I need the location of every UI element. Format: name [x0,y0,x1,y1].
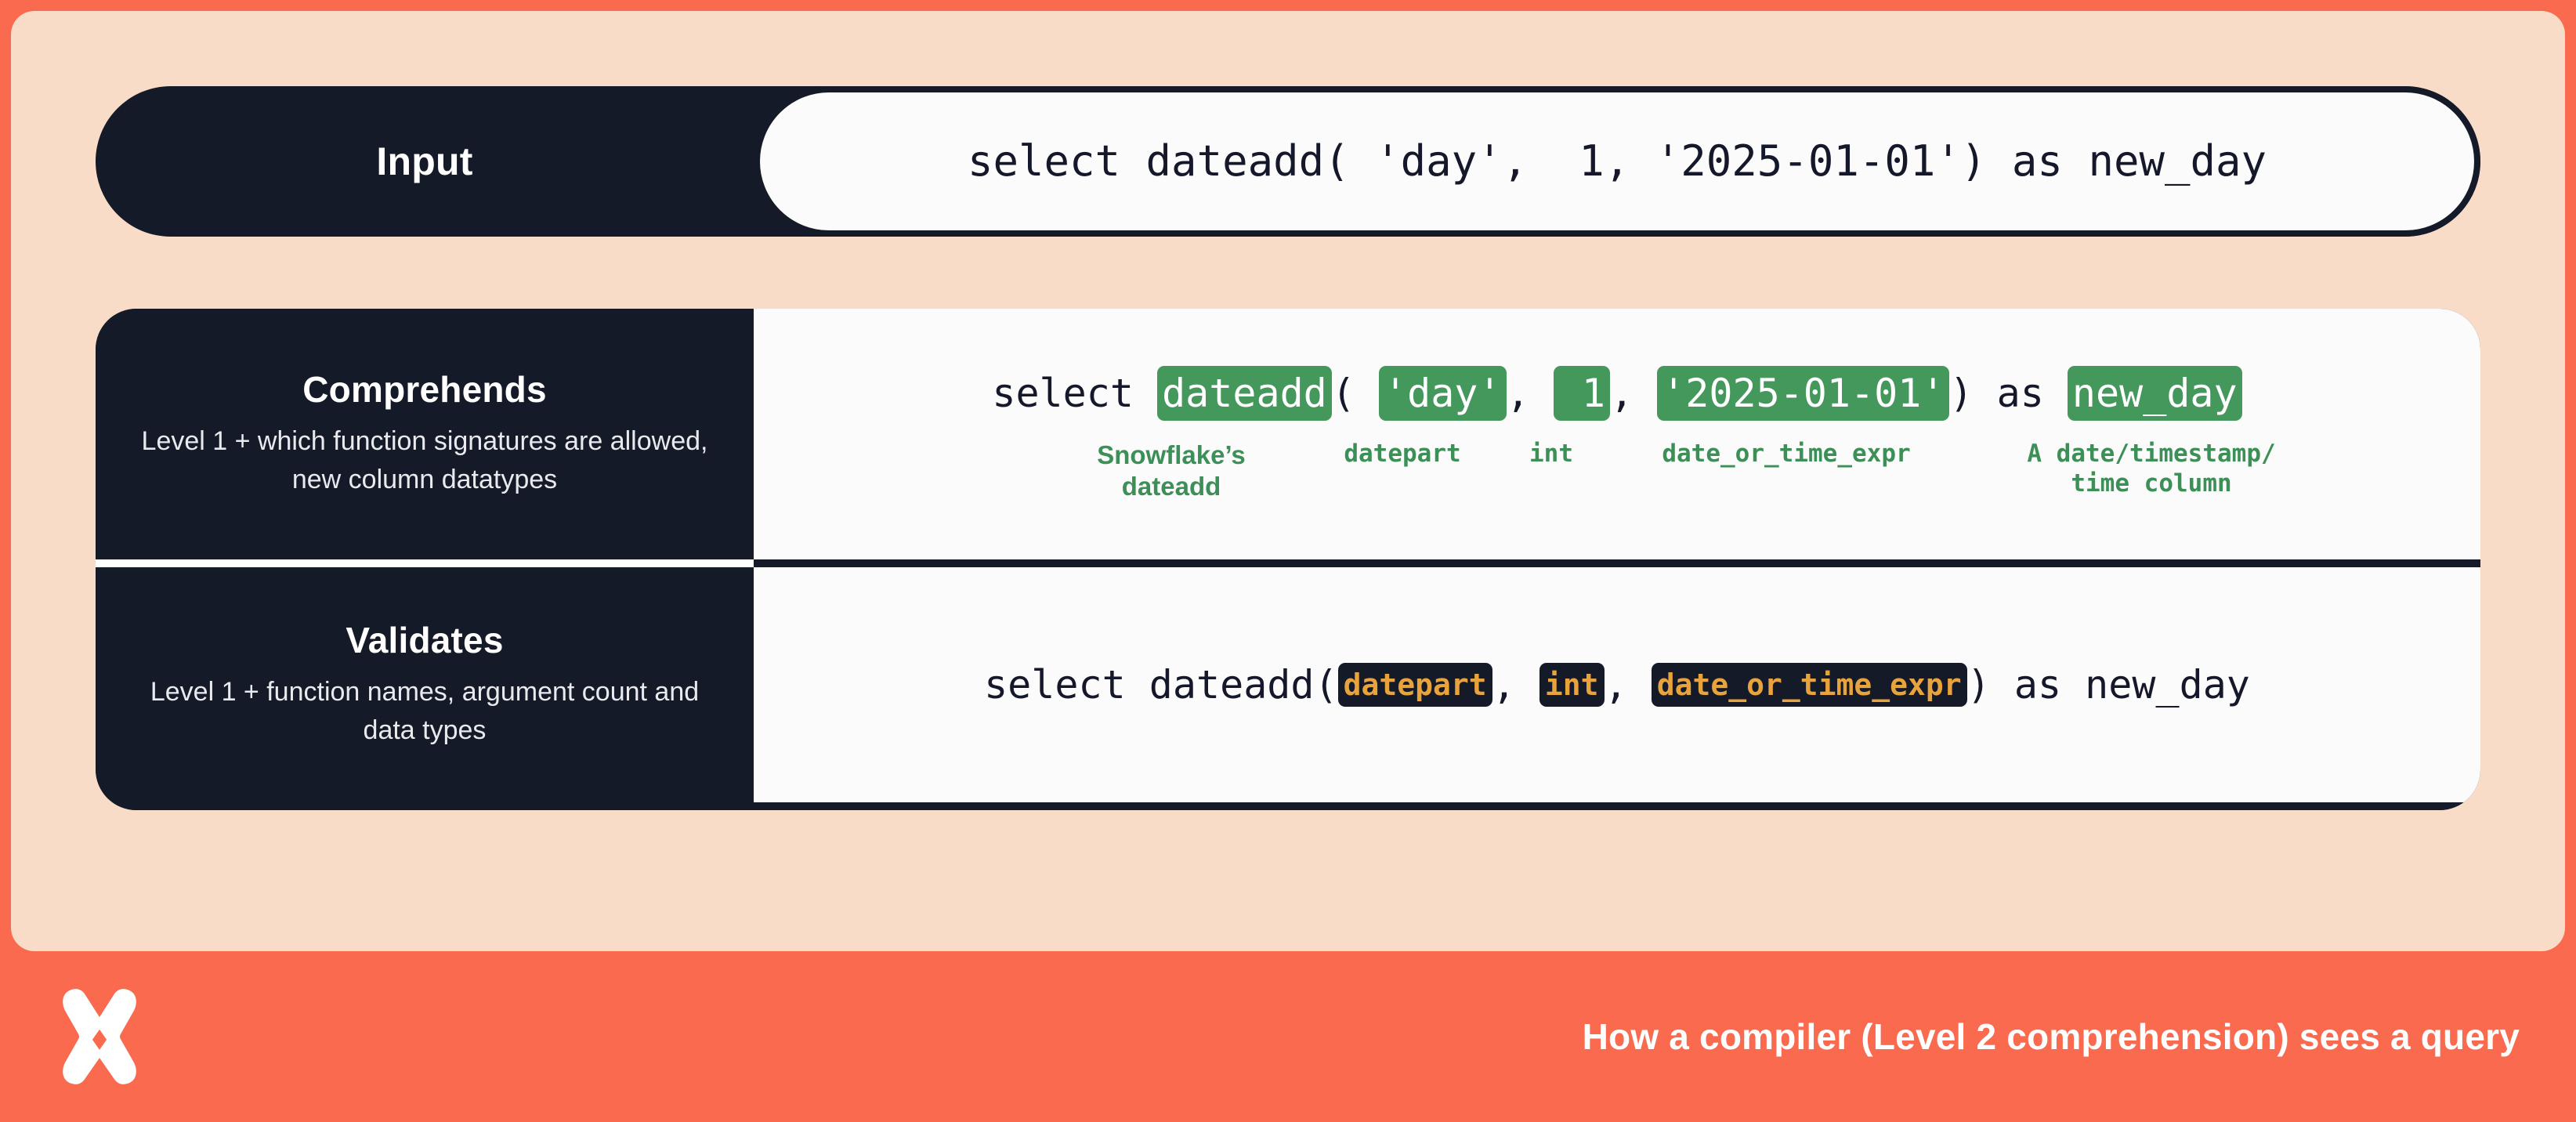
validates-label-col: Validates Level 1 + function names, argu… [96,567,754,802]
comprehends-label-col: Comprehends Level 1 + which function sig… [96,309,754,559]
validates-token-plain: , [1605,665,1652,704]
validates-token-placeholder: date_or_time_expr [1652,663,1967,707]
comprehends-token-highlight: 1 [1554,366,1610,421]
comprehends-token-plain: ) as [1949,374,2068,413]
comprehends-token-plain: select [992,374,1157,413]
annotation-label: date_or_time_expr [1618,440,1955,469]
comprehends-code-line: select dateadd( 'day', 1, '2025-01-01') … [992,366,2241,421]
comprehends-token-highlight: dateadd [1157,366,1332,421]
input-token-plain: select dateadd( 'day', 1, '2025-01-01') … [968,140,2267,183]
comprehends-token-highlight: new_day [2068,366,2242,421]
comprehends-row-subtitle: Level 1 + which function signatures are … [139,422,710,498]
comprehends-annotations: Snowflake’sdateadddatepartintdate_or_tim… [754,440,2480,503]
validates-token-placeholder: int [1539,663,1605,707]
input-card: Input select dateadd( 'day', 1, '2025-01… [96,86,2480,237]
footer-caption: How a compiler (Level 2 comprehension) s… [1583,1015,2520,1058]
comprehends-row: Comprehends Level 1 + which function sig… [96,309,2480,559]
comprehends-token-highlight: '2025-01-01' [1657,366,1949,421]
row-divider [96,559,2480,567]
levels-card-bottom-edge [96,802,2480,810]
input-row-title: Input [376,139,472,183]
annotation-label: int [1508,440,1594,469]
comprehends-code-panel: select dateadd( 'day', 1, '2025-01-01') … [754,309,2480,559]
annotation-label: Snowflake’sdateadd [1054,440,1289,503]
input-code-line: select dateadd( 'day', 1, '2025-01-01') … [968,140,2267,183]
input-label-col: Input [96,86,754,237]
validates-row: Validates Level 1 + function names, argu… [96,567,2480,802]
row-divider-right [754,559,2480,567]
validates-code-line: select dateadd(datepart, int, date_or_ti… [984,663,2250,707]
annotation-label: datepart [1320,440,1485,469]
content-stage: Input select dateadd( 'day', 1, '2025-01… [11,11,2565,951]
comprehends-token-highlight: 'day' [1379,366,1507,421]
poster-root: Input select dateadd( 'day', 1, '2025-01… [0,0,2576,1122]
validates-token-placeholder: datepart [1338,663,1492,707]
validates-token-plain: ) as new_day [1967,665,2250,704]
brand-x-logo-icon [49,986,150,1088]
validates-row-subtitle: Level 1 + function names, argument count… [139,673,710,749]
validates-row-title: Validates [346,621,503,661]
annotation-label: A date/timestamp/time column [1983,440,2320,499]
validates-code-panel: select dateadd(datepart, int, date_or_ti… [754,567,2480,802]
comprehends-token-plain: ( [1332,374,1379,413]
comprehends-token-plain: , [1610,374,1657,413]
validates-token-plain: , [1492,665,1539,704]
validates-token-plain: select dateadd( [984,665,1338,704]
row-divider-left [96,559,754,567]
levels-card: Comprehends Level 1 + which function sig… [96,309,2480,810]
comprehends-row-title: Comprehends [302,370,546,411]
input-code-panel: select dateadd( 'day', 1, '2025-01-01') … [754,86,2480,237]
comprehends-token-plain: , [1507,374,1554,413]
footer-bar: How a compiler (Level 2 comprehension) s… [0,951,2576,1122]
